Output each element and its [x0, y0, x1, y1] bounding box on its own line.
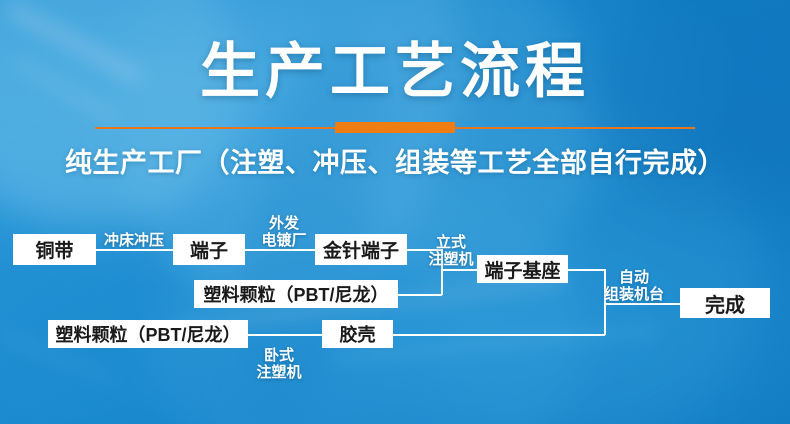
edge-line-terminal-goldpin [245, 249, 315, 251]
edge-label-plating: 外发 电镀厂 [252, 215, 316, 249]
process-flowchart: 铜带 端子 金针端子 塑料颗粒（PBT/尼龙） 塑料颗粒（PBT/尼龙） 胶壳 … [0, 0, 790, 424]
node-gold-pin-terminal[interactable]: 金针端子 [315, 234, 407, 265]
edge-line-to-base [441, 269, 477, 271]
edge-label-line: 组装机台 [588, 286, 680, 303]
edge-label-line: 注塑机 [252, 364, 306, 381]
edge-line-plastic1-shell [248, 334, 322, 336]
node-finished[interactable]: 完成 [680, 288, 770, 318]
edge-label-line: 外发 [252, 215, 316, 232]
edge-line-to-finish [604, 303, 680, 305]
edge-label-auto-assembly: 自动 组装机台 [588, 269, 680, 303]
edge-label-vertical-injection: 立式 注塑机 [424, 234, 478, 268]
node-terminal[interactable]: 端子 [173, 234, 245, 265]
edge-line-copper-terminal [96, 249, 173, 251]
edge-label-line: 卧式 [252, 347, 306, 364]
node-copper-strip[interactable]: 铜带 [13, 234, 96, 265]
edge-label-line: 电镀厂 [252, 232, 316, 249]
node-plastic-pellets-lower[interactable]: 塑料颗粒（PBT/尼龙） [48, 320, 248, 348]
edge-label-horizontal-injection: 卧式 注塑机 [252, 347, 306, 381]
edge-line-shell-out [393, 334, 605, 336]
production-process-banner: 生产工艺流程 纯生产工厂（注塑、冲压、组装等工艺全部自行完成） 铜带 端子 金针… [0, 0, 790, 424]
edge-line-plastic2-out [398, 294, 442, 296]
node-plastic-pellets-upper[interactable]: 塑料颗粒（PBT/尼龙） [194, 280, 398, 308]
edge-label-line: 冲床冲压 [99, 232, 169, 249]
edge-label-line: 自动 [588, 269, 680, 286]
node-plastic-shell[interactable]: 胶壳 [322, 320, 393, 348]
edge-label-line: 立式 [424, 234, 478, 251]
edge-label-line: 注塑机 [424, 251, 478, 268]
node-terminal-base[interactable]: 端子基座 [477, 255, 568, 283]
edge-label-stamping: 冲床冲压 [99, 232, 169, 249]
